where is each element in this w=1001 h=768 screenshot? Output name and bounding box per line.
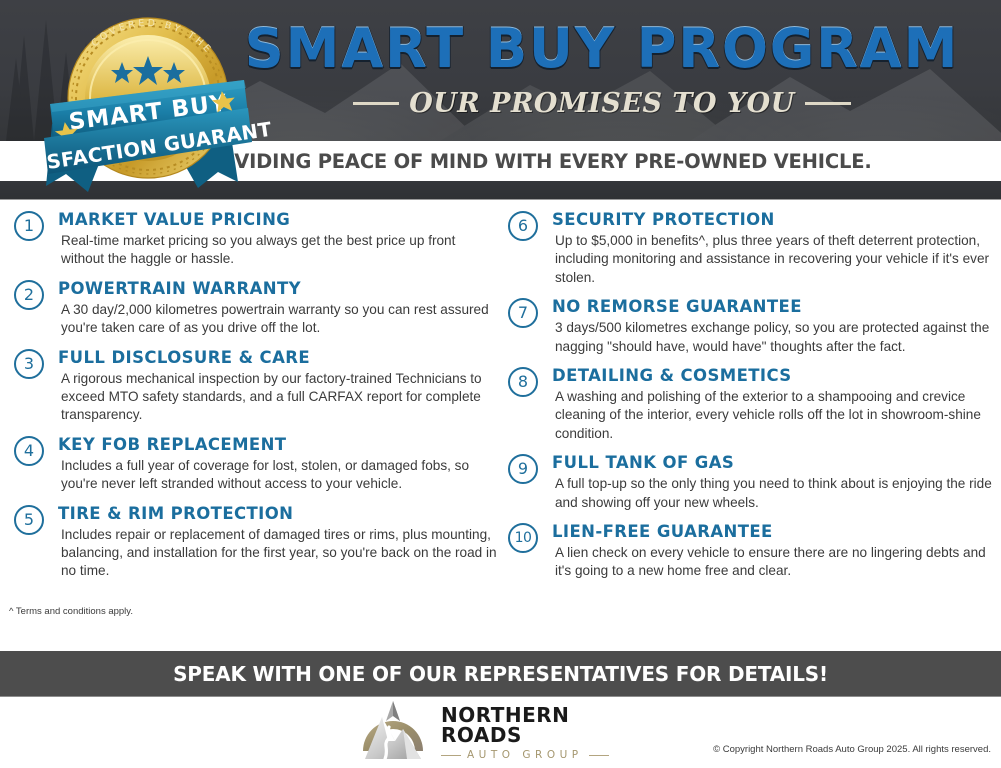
promise-title: SECURITY PROTECTION	[552, 211, 995, 229]
promise-title: KEY FOB REPLACEMENT	[58, 436, 501, 454]
promises-content: 1 MARKET VALUE PRICING Real-time market …	[0, 200, 1001, 628]
copyright-text: © Copyright Northern Roads Auto Group 20…	[713, 744, 991, 755]
smart-buy-satisfaction-guarantee-seal: COVERED BY THE SMART BUY SATISFACTION GU…	[22, 0, 272, 196]
promise-item: 5 TIRE & RIM PROTECTION Includes repair …	[14, 505, 501, 581]
promise-body: Includes a full year of coverage for los…	[58, 457, 501, 494]
footer-cta-bar: SPEAK WITH ONE OF OUR REPRESENTATIVES FO…	[0, 651, 1001, 697]
header-subtitle-row: OUR PROMISES TO YOU	[353, 88, 851, 119]
page-title: SMART BUY PROGRAM	[245, 22, 960, 76]
footer-logo-zone: NORTHERN ROADS AUTO GROUP © Copyright No…	[0, 697, 1001, 768]
promise-item: 1 MARKET VALUE PRICING Real-time market …	[14, 211, 501, 269]
promise-title: LIEN-FREE GUARANTEE	[552, 523, 995, 541]
promise-item: 8 DETAILING & COSMETICS A washing and po…	[508, 367, 995, 443]
promise-number-badge: 10	[508, 523, 538, 553]
footer-cta-text: SPEAK WITH ONE OF OUR REPRESENTATIVES FO…	[173, 662, 828, 686]
promise-number-badge: 8	[508, 367, 538, 397]
brand-name: NORTHERN ROADS	[441, 705, 645, 745]
promises-column-right: 6 SECURITY PROTECTION Up to $5,000 in be…	[508, 206, 995, 592]
promises-column-left: 1 MARKET VALUE PRICING Real-time market …	[14, 206, 501, 592]
brand-logo: NORTHERN ROADS AUTO GROUP	[355, 700, 645, 762]
promise-body: A washing and polishing of the exterior …	[552, 388, 995, 443]
promise-item: 6 SECURITY PROTECTION Up to $5,000 in be…	[508, 211, 995, 287]
brand-logo-text: NORTHERN ROADS AUTO GROUP	[441, 701, 645, 761]
brand-dash-right	[589, 755, 609, 757]
subtitle-rule-right	[805, 102, 851, 105]
promise-number-badge: 4	[14, 436, 44, 466]
promise-body: Includes repair or replacement of damage…	[58, 526, 501, 581]
header-title-block: SMART BUY PROGRAM OUR PROMISES TO YOU	[232, 0, 972, 141]
promise-item: 3 FULL DISCLOSURE & CARE A rigorous mech…	[14, 349, 501, 425]
mountain-compass-logo-icon	[355, 701, 431, 761]
promise-number-badge: 9	[508, 454, 538, 484]
promise-title: FULL TANK OF GAS	[552, 454, 995, 472]
promise-item: 2 POWERTRAIN WARRANTY A 30 day/2,000 kil…	[14, 280, 501, 338]
promise-number-badge: 3	[14, 349, 44, 379]
promise-title: NO REMORSE GUARANTEE	[552, 298, 995, 316]
promise-body: Real-time market pricing so you always g…	[58, 232, 501, 269]
promise-body: 3 days/500 kilometres exchange policy, s…	[552, 319, 995, 356]
brand-subtitle-row: AUTO GROUP	[441, 750, 645, 761]
promise-item: 9 FULL TANK OF GAS A full top-up so the …	[508, 454, 995, 512]
promise-number-badge: 5	[14, 505, 44, 535]
promise-item: 10 LIEN-FREE GUARANTEE A lien check on e…	[508, 523, 995, 581]
subtitle-rule-left	[353, 102, 399, 105]
promise-number-badge: 6	[508, 211, 538, 241]
promise-title: POWERTRAIN WARRANTY	[58, 280, 501, 298]
promise-body: A lien check on every vehicle to ensure …	[552, 544, 995, 581]
promise-body: A full top-up so the only thing you need…	[552, 475, 995, 512]
terms-footnote: ^ Terms and conditions apply.	[9, 606, 133, 617]
promise-number-badge: 7	[508, 298, 538, 328]
promise-body: Up to $5,000 in benefits^, plus three ye…	[552, 232, 995, 287]
promise-title: TIRE & RIM PROTECTION	[58, 505, 501, 523]
promise-item: 7 NO REMORSE GUARANTEE 3 days/500 kilome…	[508, 298, 995, 356]
promise-number-badge: 1	[14, 211, 44, 241]
promise-title: MARKET VALUE PRICING	[58, 211, 501, 229]
brand-subtitle: AUTO GROUP	[467, 750, 583, 761]
promise-item: 4 KEY FOB REPLACEMENT Includes a full ye…	[14, 436, 501, 494]
promise-title: FULL DISCLOSURE & CARE	[58, 349, 501, 367]
brand-dash-left	[441, 755, 461, 757]
promise-number-badge: 2	[14, 280, 44, 310]
promise-body: A rigorous mechanical inspection by our …	[58, 370, 501, 425]
page-subtitle: OUR PROMISES TO YOU	[409, 88, 795, 119]
promise-title: DETAILING & COSMETICS	[552, 367, 995, 385]
promise-body: A 30 day/2,000 kilometres powertrain war…	[58, 301, 501, 338]
